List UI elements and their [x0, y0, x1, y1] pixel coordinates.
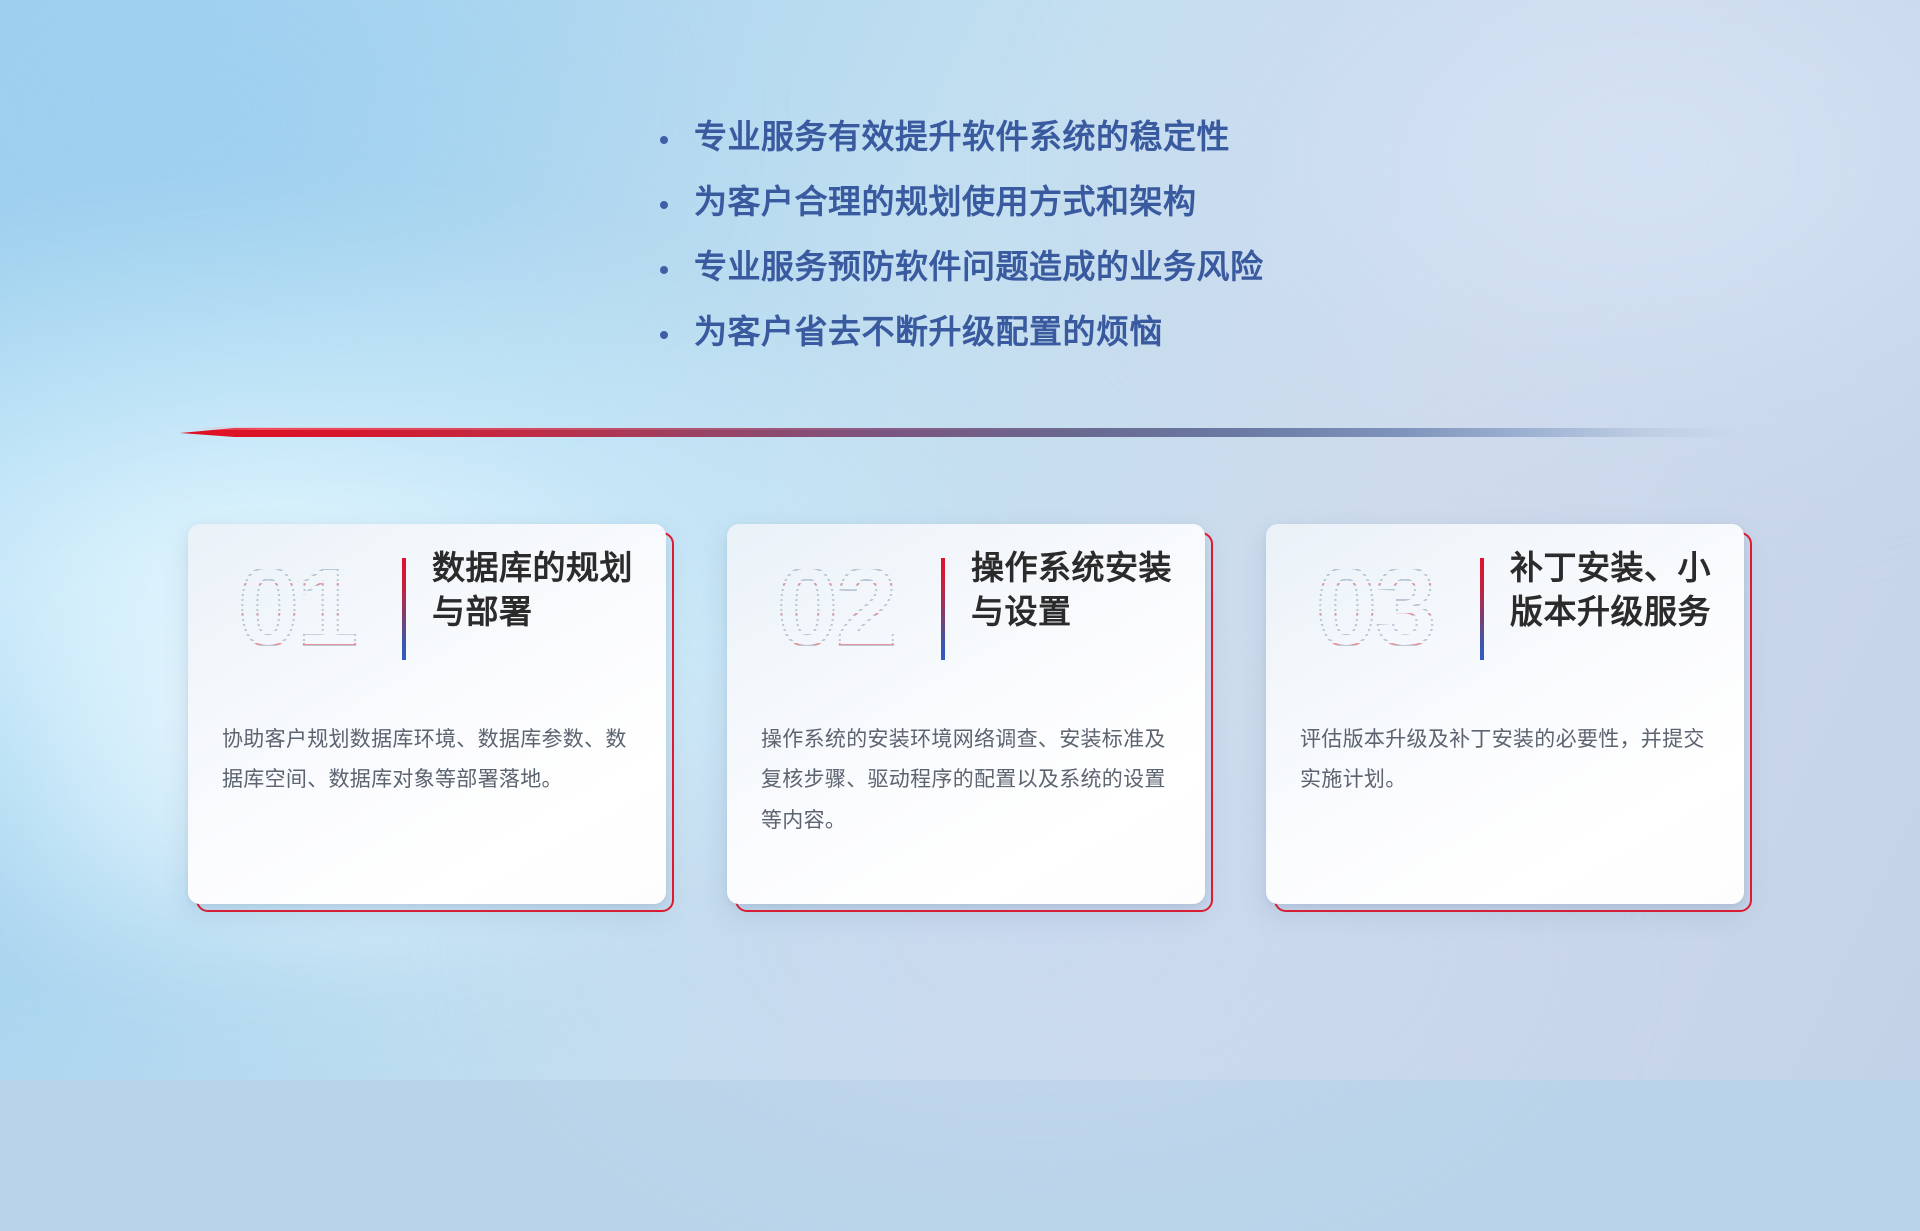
- card-accent-bar: [941, 558, 945, 660]
- card-title: 补丁安装、小版本升级服务: [1510, 546, 1724, 634]
- bullet-text: 为客户省去不断升级配置的烦恼: [694, 305, 1163, 353]
- service-card-02[interactable]: 02 02 操作系统安装与设置 操作系统的安装环境网络调查、安装标准及复核步骤、…: [727, 524, 1209, 908]
- card-number-ghost-tint: 03: [1290, 544, 1460, 672]
- bullet-text: 专业服务预防软件问题造成的业务风险: [694, 240, 1264, 288]
- card-title: 数据库的规划与部署: [432, 546, 646, 634]
- bullet-dot-icon: [660, 320, 694, 344]
- card-body-text: 评估版本升级及补丁安装的必要性，并提交实施计划。: [1300, 720, 1712, 801]
- card-body-text: 协助客户规划数据库环境、数据库参数、数据库空间、数据库对象等部署落地。: [222, 720, 634, 801]
- card-accent-bar: [1480, 558, 1484, 660]
- card-surface: 02 02 操作系统安装与设置 操作系统的安装环境网络调查、安装标准及复核步骤、…: [727, 524, 1205, 904]
- card-body-text: 操作系统的安装环境网络调查、安装标准及复核步骤、驱动程序的配置以及系统的设置等内…: [761, 720, 1173, 841]
- list-item: 专业服务预防软件问题造成的业务风险: [660, 240, 1560, 305]
- card-header: 02 02 操作系统安装与设置: [727, 524, 1205, 696]
- bullet-text: 专业服务有效提升软件系统的稳定性: [694, 110, 1230, 158]
- benefits-bullet-list: 专业服务有效提升软件系统的稳定性 为客户合理的规划使用方式和架构 专业服务预防软…: [660, 110, 1560, 370]
- card-surface: 03 03 补丁安装、小版本升级服务 评估版本升级及补丁安装的必要性，并提交实施…: [1266, 524, 1744, 904]
- list-item: 专业服务有效提升软件系统的稳定性: [660, 110, 1560, 175]
- list-item: 为客户省去不断升级配置的烦恼: [660, 305, 1560, 370]
- service-card-row: 01 01 数据库的规划与部署 协助客户规划数据库环境、数据库参数、数据库空间、…: [188, 524, 1748, 914]
- card-accent-bar: [402, 558, 406, 660]
- bullet-dot-icon: [660, 255, 694, 279]
- service-card-03[interactable]: 03 03 补丁安装、小版本升级服务 评估版本升级及补丁安装的必要性，并提交实施…: [1266, 524, 1748, 908]
- section-divider: [180, 425, 1740, 441]
- card-number-ghost-tint: 02: [751, 544, 921, 672]
- service-card-01[interactable]: 01 01 数据库的规划与部署 协助客户规划数据库环境、数据库参数、数据库空间、…: [188, 524, 670, 908]
- bullet-text: 为客户合理的规划使用方式和架构: [694, 175, 1197, 223]
- bullet-dot-icon: [660, 125, 694, 149]
- bullet-dot-icon: [660, 190, 694, 214]
- card-header: 01 01 数据库的规划与部署: [188, 524, 666, 696]
- card-surface: 01 01 数据库的规划与部署 协助客户规划数据库环境、数据库参数、数据库空间、…: [188, 524, 666, 904]
- list-item: 为客户合理的规划使用方式和架构: [660, 175, 1560, 240]
- card-number-ghost-tint: 01: [212, 544, 382, 672]
- divider-highlight: [180, 427, 1147, 430]
- card-header: 03 03 补丁安装、小版本升级服务: [1266, 524, 1744, 696]
- card-title: 操作系统安装与设置: [971, 546, 1185, 634]
